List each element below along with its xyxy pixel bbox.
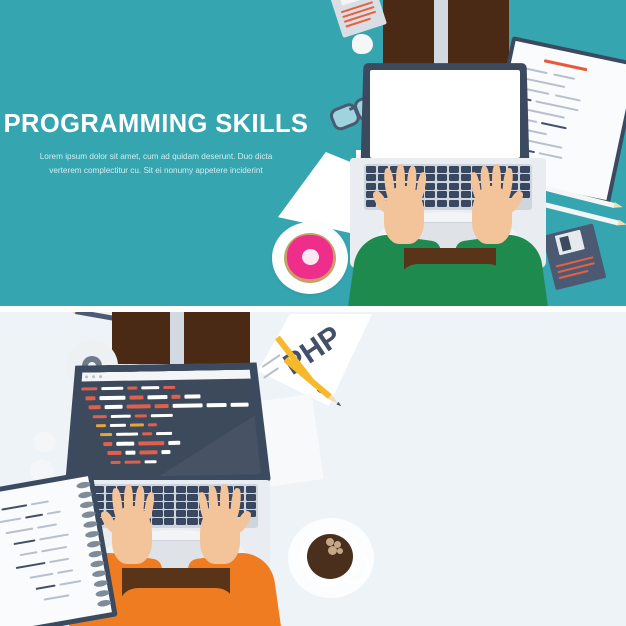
key[interactable] [164,518,174,525]
key[interactable] [176,502,186,509]
key[interactable] [366,166,376,173]
hand-right-bottom [192,482,248,574]
laptop-screen-blank [370,70,520,158]
code-token [148,423,157,427]
desk-wood-right-b [184,312,250,364]
donut-hole [302,249,319,265]
code-token [125,460,141,464]
code-token [138,441,164,445]
crumpled-paper-top [352,34,373,54]
code-token [96,424,106,428]
code-token [125,451,135,455]
code-token [110,414,130,418]
desk-gap-b [170,312,184,364]
code-token [142,432,152,436]
code-token [105,405,123,409]
code-token [168,441,180,445]
key[interactable] [164,494,174,501]
code-token [85,396,95,400]
window-dot-3 [99,375,102,378]
code-token [161,450,170,454]
torso-top [398,264,508,306]
key[interactable] [449,191,459,198]
code-token [81,387,97,391]
code-token [100,433,112,437]
code-token [141,386,159,390]
code-token [99,396,125,400]
coding-resources-banner: PHP [0,312,626,626]
code-token [89,406,101,410]
donut-on-plate [272,222,348,294]
code-token [156,432,172,436]
key[interactable] [366,183,376,190]
key[interactable] [449,166,459,173]
key[interactable] [449,183,459,190]
key[interactable] [176,510,186,517]
key[interactable] [437,174,447,181]
window-dot-1 [85,375,88,378]
code-token [129,396,143,400]
code-token [147,395,167,399]
foam-bubble-4 [337,548,343,554]
key[interactable] [437,166,447,173]
torso-bottom [118,588,236,626]
hand-left-bottom [104,482,160,574]
code-token [231,403,249,407]
desk-wood-left-b [112,312,170,364]
code-token [92,415,106,419]
key[interactable] [520,166,530,173]
hand-right-top [464,162,520,254]
coffee-cup-on-saucer [288,518,378,602]
code-token [103,442,112,446]
code-token [101,387,123,391]
code-token [184,395,200,399]
code-token [163,386,175,390]
code-token [150,413,172,417]
code-token [145,460,157,464]
code-token [127,405,151,409]
key[interactable] [437,191,447,198]
key[interactable] [437,200,447,207]
code-token [110,424,126,428]
page-title-top: PROGRAMMING SKILLS [0,112,312,138]
key[interactable] [449,174,459,181]
floppy-disk-right [542,222,613,296]
key[interactable] [164,486,174,493]
code-token [134,414,146,418]
code-editor-screen[interactable] [73,369,261,477]
floppy-disk-left [329,0,387,38]
key[interactable] [366,174,376,181]
key[interactable] [176,518,186,525]
code-token [173,404,203,408]
code-token [155,404,169,408]
programming-skills-banner: PROGRAMMING SKILLS Lorem ipsum dolor sit… [0,0,626,306]
code-token [127,387,137,391]
key[interactable] [449,200,459,207]
code-token [116,433,138,437]
code-token [116,442,134,446]
code-token [130,423,144,427]
key[interactable] [437,183,447,190]
subtitle-top: Lorem ipsum dolor sit amet, cum ad quida… [0,150,312,178]
code-token [111,460,121,464]
key[interactable] [520,183,530,190]
key[interactable] [176,486,186,493]
window-dot-2 [92,375,95,378]
foam-bubble-1 [326,538,334,546]
code-token [107,451,121,455]
key[interactable] [520,174,530,181]
key[interactable] [164,502,174,509]
foam-bubble-3 [328,546,337,555]
illustration-canvas: PROGRAMMING SKILLS Lorem ipsum dolor sit… [0,0,626,626]
headline-block-top: PROGRAMMING SKILLS Lorem ipsum dolor sit… [0,112,312,178]
crumpled-paper-b1 [34,432,56,452]
key[interactable] [176,494,186,501]
code-token [139,451,157,455]
code-token [171,395,180,399]
code-token [207,403,227,407]
hand-left-top [376,162,432,254]
key[interactable] [164,510,174,517]
